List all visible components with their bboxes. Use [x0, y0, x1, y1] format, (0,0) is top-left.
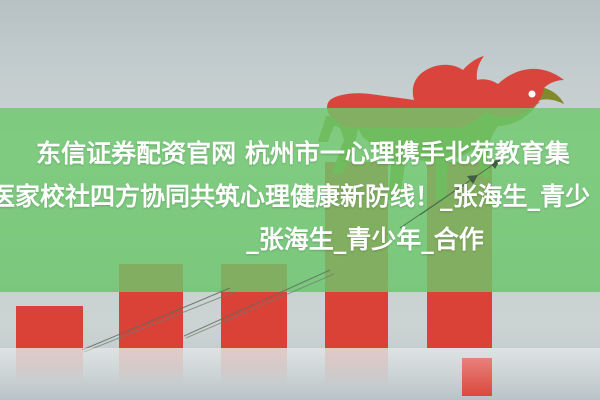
- bar-2-reflection: [119, 348, 183, 384]
- caption-overlay: 东信证券配资官网 杭州市一心理携手北苑教育集 医家校社四方协同共筑心理健康新防线…: [0, 132, 600, 261]
- caption-line-3: _张海生_青少年_合作: [130, 218, 600, 261]
- caption-line-1: 东信证券配资官网 杭州市一心理携手北苑教育集: [6, 132, 600, 175]
- bar-1: [16, 306, 83, 348]
- bar-4-reflection: [325, 348, 388, 386]
- bar-1-reflection: [16, 348, 83, 382]
- illustration-canvas: 东信证券配资官网 杭州市一心理携手北苑教育集 医家校社四方协同共筑心理健康新防线…: [0, 0, 600, 400]
- bar-5-stub: [462, 358, 492, 396]
- bar-3-reflection: [221, 348, 287, 384]
- caption-line-2: 医家校社四方协同共筑心理健康新防线！_张海生_青少: [0, 175, 600, 218]
